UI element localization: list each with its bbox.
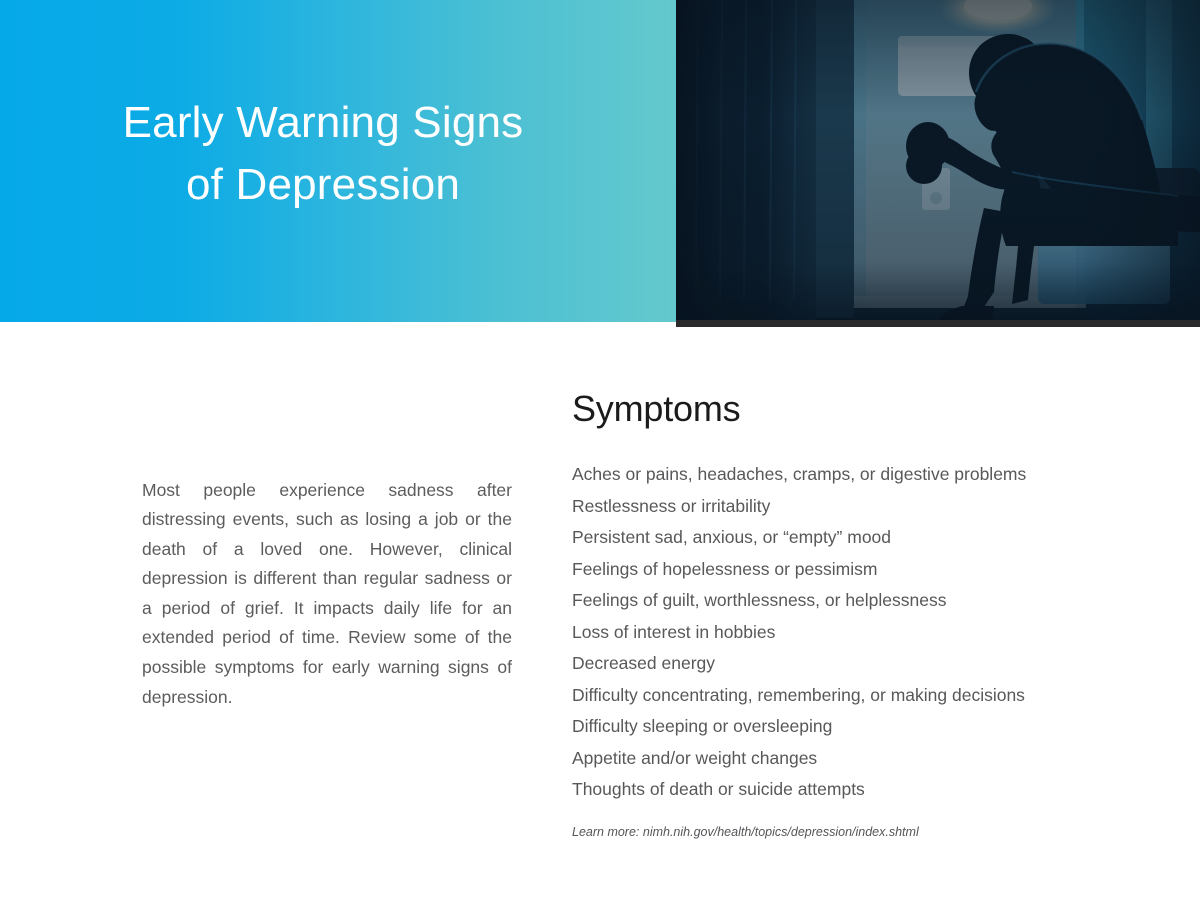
list-item: Thoughts of death or suicide attempts [572,774,1172,806]
list-item: Feelings of hopelessness or pessimism [572,554,1172,586]
list-item: Difficulty sleeping or oversleeping [572,711,1172,743]
list-item: Difficulty concentrating, remembering, o… [572,680,1172,712]
intro-paragraph: Most people experience sadness after dis… [142,476,512,713]
list-item: Decreased energy [572,648,1172,680]
symptoms-list: Aches or pains, headaches, cramps, or di… [572,459,1172,806]
list-item: Persistent sad, anxious, or “empty” mood [572,522,1172,554]
page-title-line-1: Early Warning Signs [0,92,646,154]
page-title-line-2: of Depression [0,154,646,216]
list-item: Aches or pains, headaches, cramps, or di… [572,459,1172,491]
list-item: Feelings of guilt, worthlessness, or hel… [572,585,1172,617]
symptoms-heading: Symptoms [572,387,1172,431]
page-title: Early Warning Signs of Depression [0,92,676,216]
list-item: Restlessness or irritability [572,491,1172,523]
symptoms-panel: Symptoms Aches or pains, headaches, cram… [572,387,1172,839]
hero-banner: Early Warning Signs of Depression [0,0,1200,327]
learn-more-source-note: Learn more: nimh.nih.gov/health/topics/d… [572,825,1172,839]
content-area: Most people experience sadness after dis… [0,327,1200,900]
list-item: Loss of interest in hobbies [572,617,1172,649]
list-item: Appetite and/or weight changes [572,743,1172,775]
hero-photo [676,0,1200,327]
